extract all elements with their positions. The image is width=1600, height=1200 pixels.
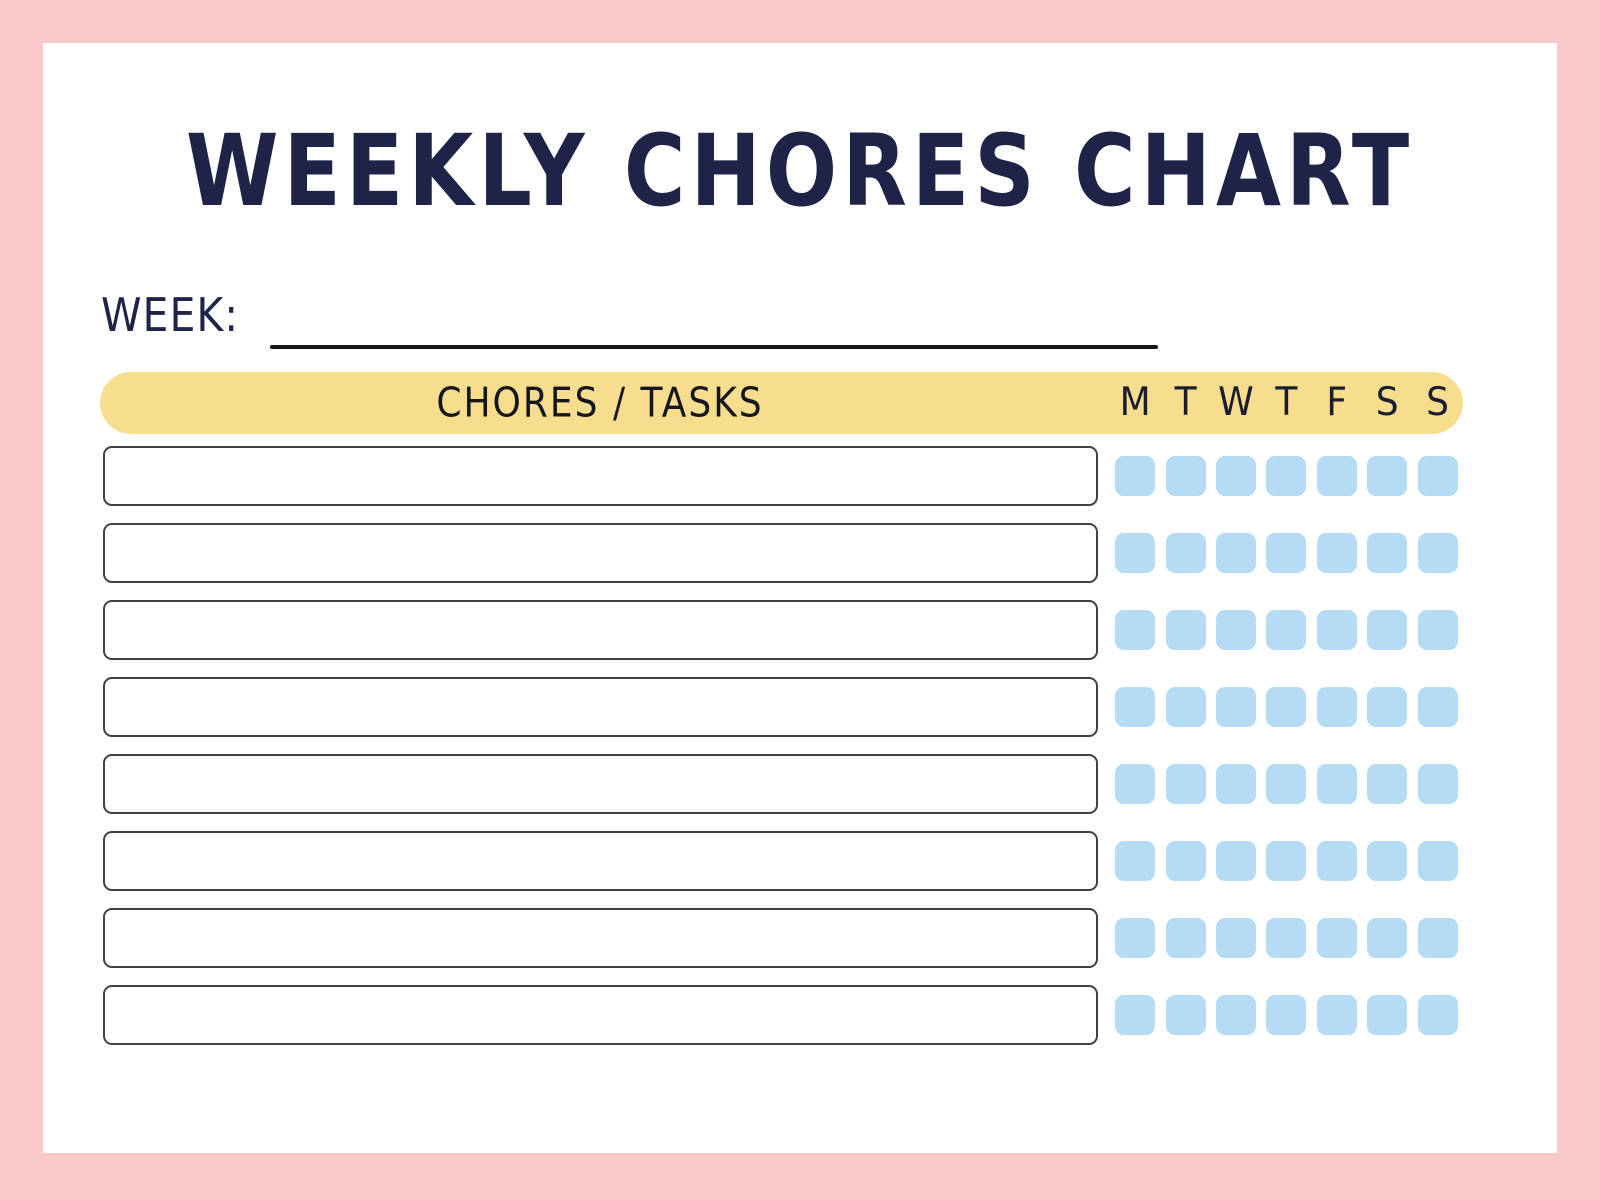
checkbox-icon[interactable] xyxy=(1266,610,1306,650)
checkbox-icon[interactable] xyxy=(1266,841,1306,881)
checkbox-cell-monday[interactable] xyxy=(1110,918,1160,958)
checkbox-cell-saturday[interactable] xyxy=(1362,995,1412,1035)
checkbox-cell-friday[interactable] xyxy=(1312,456,1362,496)
day-header-tuesday-label: T xyxy=(1175,383,1197,423)
week-field-group: WEEK: xyxy=(101,287,1161,351)
checkbox-cell-thursday[interactable] xyxy=(1261,841,1311,881)
table-row xyxy=(100,831,1463,891)
checkbox-cell-saturday[interactable] xyxy=(1362,533,1412,573)
checkbox-icon[interactable] xyxy=(1216,610,1256,650)
checkbox-cell-sunday[interactable] xyxy=(1412,456,1462,496)
checkbox-cell-sunday[interactable] xyxy=(1412,687,1462,727)
checkbox-cell-friday[interactable] xyxy=(1312,764,1362,804)
checkbox-group xyxy=(1110,523,1463,583)
checkbox-icon[interactable] xyxy=(1216,764,1256,804)
checkbox-icon[interactable] xyxy=(1317,995,1357,1035)
checkbox-cell-tuesday[interactable] xyxy=(1160,610,1210,650)
checkbox-group xyxy=(1110,600,1463,660)
checkbox-icon[interactable] xyxy=(1166,918,1206,958)
task-input[interactable] xyxy=(103,985,1098,1045)
checkbox-icon[interactable] xyxy=(1418,610,1458,650)
checkbox-icon[interactable] xyxy=(1216,918,1256,958)
checkbox-icon[interactable] xyxy=(1166,687,1206,727)
checkbox-cell-saturday[interactable] xyxy=(1362,764,1412,804)
checkbox-cell-saturday[interactable] xyxy=(1362,456,1412,496)
checkbox-icon[interactable] xyxy=(1418,995,1458,1035)
checkbox-icon[interactable] xyxy=(1317,687,1357,727)
checkbox-icon[interactable] xyxy=(1418,533,1458,573)
checkbox-cell-wednesday[interactable] xyxy=(1211,764,1261,804)
checkbox-cell-tuesday[interactable] xyxy=(1160,764,1210,804)
checkbox-icon[interactable] xyxy=(1166,610,1206,650)
checkbox-icon[interactable] xyxy=(1266,918,1306,958)
checkbox-icon[interactable] xyxy=(1367,995,1407,1035)
checkbox-cell-friday[interactable] xyxy=(1312,995,1362,1035)
checkbox-icon[interactable] xyxy=(1418,687,1458,727)
checkbox-cell-thursday[interactable] xyxy=(1261,456,1311,496)
checkbox-cell-monday[interactable] xyxy=(1110,533,1160,573)
day-header-saturday-label: S xyxy=(1376,383,1399,423)
checkbox-group xyxy=(1110,985,1463,1045)
day-header-wednesday: W xyxy=(1211,385,1261,421)
day-headers: M T W T F S S xyxy=(1110,372,1463,434)
checkbox-icon[interactable] xyxy=(1115,456,1155,496)
checkbox-cell-monday[interactable] xyxy=(1110,764,1160,804)
checkbox-icon[interactable] xyxy=(1115,764,1155,804)
checkbox-icon[interactable] xyxy=(1317,918,1357,958)
checkbox-cell-tuesday[interactable] xyxy=(1160,841,1210,881)
chores-tasks-header: CHORES / TASKS xyxy=(100,372,1100,434)
checkbox-cell-wednesday[interactable] xyxy=(1211,995,1261,1035)
task-rows xyxy=(100,446,1463,1062)
checkbox-cell-sunday[interactable] xyxy=(1412,610,1462,650)
checkbox-icon[interactable] xyxy=(1266,764,1306,804)
checkbox-cell-tuesday[interactable] xyxy=(1160,533,1210,573)
day-header-friday: F xyxy=(1312,385,1362,421)
checkbox-icon[interactable] xyxy=(1166,995,1206,1035)
checkbox-icon[interactable] xyxy=(1317,841,1357,881)
checkbox-cell-friday[interactable] xyxy=(1312,610,1362,650)
task-input[interactable] xyxy=(103,677,1098,737)
checkbox-icon[interactable] xyxy=(1166,764,1206,804)
checkbox-cell-thursday[interactable] xyxy=(1261,533,1311,573)
table-row xyxy=(100,677,1463,737)
table-row xyxy=(100,446,1463,506)
checkbox-cell-tuesday[interactable] xyxy=(1160,918,1210,958)
checkbox-icon[interactable] xyxy=(1367,610,1407,650)
checkbox-icon[interactable] xyxy=(1266,995,1306,1035)
checkbox-icon[interactable] xyxy=(1216,841,1256,881)
checkbox-cell-sunday[interactable] xyxy=(1412,841,1462,881)
checkbox-group xyxy=(1110,908,1463,968)
day-header-monday: M xyxy=(1110,385,1160,421)
checkbox-cell-sunday[interactable] xyxy=(1412,764,1462,804)
checkbox-cell-saturday[interactable] xyxy=(1362,610,1412,650)
checkbox-cell-tuesday[interactable] xyxy=(1160,456,1210,496)
week-input-line[interactable] xyxy=(270,345,1158,349)
checkbox-cell-thursday[interactable] xyxy=(1261,610,1311,650)
checkbox-cell-monday[interactable] xyxy=(1110,995,1160,1035)
checkbox-icon[interactable] xyxy=(1266,687,1306,727)
checkbox-icon[interactable] xyxy=(1317,610,1357,650)
checkbox-cell-wednesday[interactable] xyxy=(1211,533,1261,573)
checkbox-cell-monday[interactable] xyxy=(1110,456,1160,496)
checkbox-icon[interactable] xyxy=(1317,456,1357,496)
checkbox-icon[interactable] xyxy=(1317,764,1357,804)
day-header-friday-label: F xyxy=(1326,383,1347,423)
table-row xyxy=(100,523,1463,583)
checkbox-icon[interactable] xyxy=(1115,533,1155,573)
checkbox-icon[interactable] xyxy=(1418,456,1458,496)
checkbox-cell-monday[interactable] xyxy=(1110,841,1160,881)
checkbox-icon[interactable] xyxy=(1115,995,1155,1035)
checkbox-group xyxy=(1110,754,1463,814)
checkbox-cell-wednesday[interactable] xyxy=(1211,841,1261,881)
checkbox-icon[interactable] xyxy=(1367,764,1407,804)
checkbox-icon[interactable] xyxy=(1166,841,1206,881)
checkbox-cell-saturday[interactable] xyxy=(1362,687,1412,727)
table-header-band: CHORES / TASKS M T W T F S S xyxy=(100,372,1463,434)
day-header-monday-label: M xyxy=(1120,383,1151,423)
checkbox-cell-thursday[interactable] xyxy=(1261,687,1311,727)
checkbox-cell-tuesday[interactable] xyxy=(1160,995,1210,1035)
checkbox-cell-monday[interactable] xyxy=(1110,687,1160,727)
checkbox-icon[interactable] xyxy=(1115,841,1155,881)
checkbox-icon[interactable] xyxy=(1166,456,1206,496)
checkbox-icon[interactable] xyxy=(1367,687,1407,727)
checkbox-cell-saturday[interactable] xyxy=(1362,841,1412,881)
chart-sheet: WEEKLY CHORES CHART WEEK: CHORES / TASKS… xyxy=(43,43,1557,1153)
checkbox-icon[interactable] xyxy=(1418,764,1458,804)
checkbox-icon[interactable] xyxy=(1216,995,1256,1035)
checkbox-cell-friday[interactable] xyxy=(1312,841,1362,881)
checkbox-icon[interactable] xyxy=(1115,918,1155,958)
checkbox-icon[interactable] xyxy=(1115,687,1155,727)
checkbox-icon[interactable] xyxy=(1367,841,1407,881)
table-row xyxy=(100,985,1463,1045)
checkbox-icon[interactable] xyxy=(1317,533,1357,573)
checkbox-cell-friday[interactable] xyxy=(1312,687,1362,727)
checkbox-cell-wednesday[interactable] xyxy=(1211,456,1261,496)
day-header-thursday: T xyxy=(1261,385,1311,421)
checkbox-group xyxy=(1110,831,1463,891)
checkbox-cell-wednesday[interactable] xyxy=(1211,610,1261,650)
checkbox-icon[interactable] xyxy=(1367,533,1407,573)
checkbox-cell-sunday[interactable] xyxy=(1412,995,1462,1035)
checkbox-icon[interactable] xyxy=(1418,841,1458,881)
task-input[interactable] xyxy=(103,908,1098,968)
task-input[interactable] xyxy=(103,754,1098,814)
table-row xyxy=(100,600,1463,660)
checkbox-cell-friday[interactable] xyxy=(1312,918,1362,958)
checkbox-group xyxy=(1110,677,1463,737)
checkbox-cell-thursday[interactable] xyxy=(1261,995,1311,1035)
checkbox-cell-thursday[interactable] xyxy=(1261,764,1311,804)
day-header-sunday-label: S xyxy=(1426,383,1449,423)
page-frame: WEEKLY CHORES CHART WEEK: CHORES / TASKS… xyxy=(0,0,1600,1200)
table-row xyxy=(100,908,1463,968)
checkbox-cell-friday[interactable] xyxy=(1312,533,1362,573)
checkbox-group xyxy=(1110,446,1463,506)
checkbox-icon[interactable] xyxy=(1266,456,1306,496)
day-header-thursday-label: T xyxy=(1275,383,1297,423)
checkbox-icon[interactable] xyxy=(1367,918,1407,958)
page-title: WEEKLY CHORES CHART xyxy=(43,121,1557,220)
checkbox-cell-saturday[interactable] xyxy=(1362,918,1412,958)
checkbox-cell-wednesday[interactable] xyxy=(1211,918,1261,958)
checkbox-cell-sunday[interactable] xyxy=(1412,918,1462,958)
checkbox-icon[interactable] xyxy=(1216,687,1256,727)
task-input[interactable] xyxy=(103,600,1098,660)
checkbox-cell-tuesday[interactable] xyxy=(1160,687,1210,727)
checkbox-icon[interactable] xyxy=(1166,533,1206,573)
week-label: WEEK: xyxy=(101,293,239,339)
checkbox-icon[interactable] xyxy=(1115,610,1155,650)
table-row xyxy=(100,754,1463,814)
task-input[interactable] xyxy=(103,446,1098,506)
chores-tasks-header-label: CHORES / TASKS xyxy=(436,380,763,427)
checkbox-cell-monday[interactable] xyxy=(1110,610,1160,650)
task-input[interactable] xyxy=(103,523,1098,583)
checkbox-icon[interactable] xyxy=(1216,456,1256,496)
day-header-wednesday-label: W xyxy=(1218,383,1254,423)
checkbox-cell-sunday[interactable] xyxy=(1412,533,1462,573)
day-header-saturday: S xyxy=(1362,385,1412,421)
checkbox-cell-thursday[interactable] xyxy=(1261,918,1311,958)
checkbox-cell-wednesday[interactable] xyxy=(1211,687,1261,727)
day-header-tuesday: T xyxy=(1160,385,1210,421)
checkbox-icon[interactable] xyxy=(1367,456,1407,496)
checkbox-icon[interactable] xyxy=(1418,918,1458,958)
checkbox-icon[interactable] xyxy=(1266,533,1306,573)
task-input[interactable] xyxy=(103,831,1098,891)
day-header-sunday: S xyxy=(1412,385,1462,421)
checkbox-icon[interactable] xyxy=(1216,533,1256,573)
